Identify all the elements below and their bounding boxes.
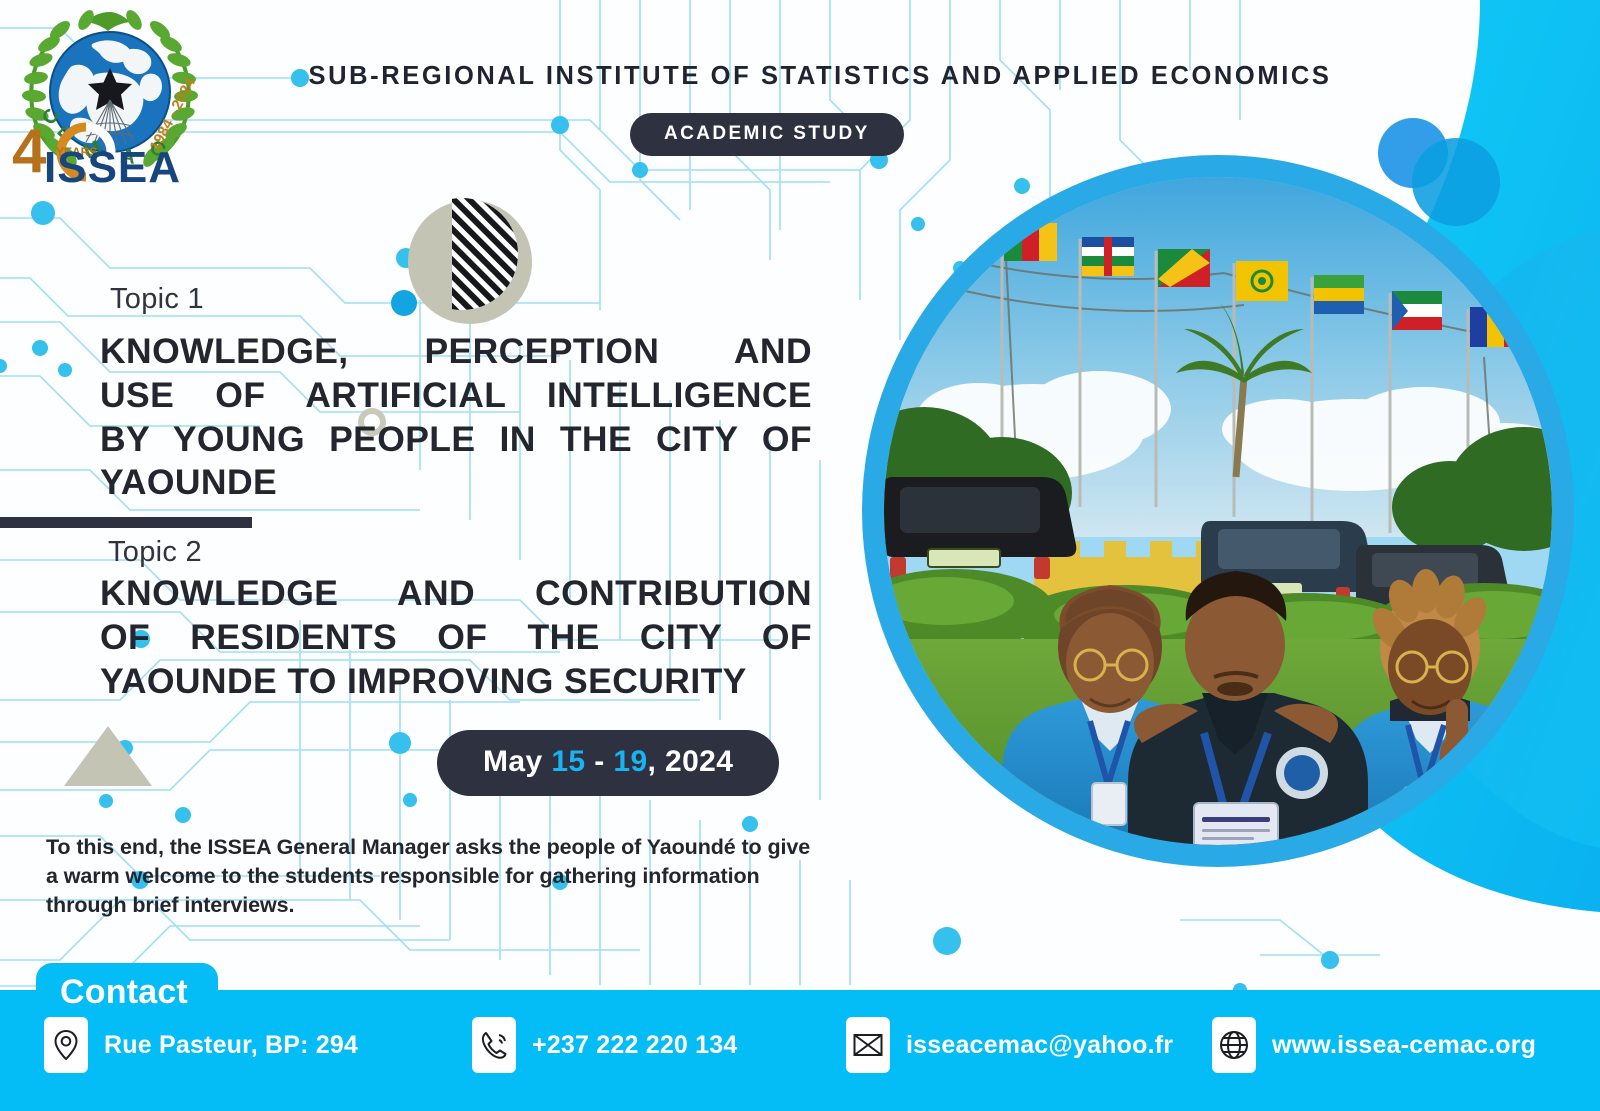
- topic-1-label: Topic 1: [110, 283, 204, 316]
- date-separator: -: [585, 745, 613, 778]
- event-date-badge: May 15 - 19, 2024: [437, 730, 779, 796]
- photo-frame: [884, 177, 1552, 845]
- contact-tab-label: Contact: [36, 963, 218, 1020]
- contact-website-value: www.issea-cemac.org: [1272, 1031, 1536, 1060]
- topic-2-label: Topic 2: [108, 536, 202, 569]
- contact-website[interactable]: www.issea-cemac.org: [1212, 1017, 1536, 1073]
- academic-study-badge: ACADEMIC STUDY: [630, 113, 904, 156]
- date-year: , 2024: [648, 745, 734, 778]
- location-pin-icon: [44, 1017, 88, 1073]
- photo-circle: [862, 155, 1574, 867]
- contact-email-value: isseacemac@yahoo.fr: [906, 1031, 1173, 1060]
- date-day-start: 15: [551, 745, 585, 778]
- students-photo: [884, 177, 1552, 845]
- page-title: SUB-REGIONAL INSTITUTE OF STATISTICS AND…: [260, 62, 1380, 91]
- svg-text:ISSEA: ISSEA: [44, 143, 181, 184]
- topic-2-title-line: KNOWLEDGE AND CONTRIBUTION: [100, 572, 812, 616]
- contact-phone[interactable]: +237 222 220 134: [472, 1017, 737, 1073]
- topic-2-title: KNOWLEDGE AND CONTRIBUTION OF RESIDENTS …: [100, 572, 812, 703]
- envelope-icon: [846, 1017, 890, 1073]
- beige-triangle-decoration: [64, 726, 152, 786]
- notice-paragraph: To this end, the ISSEA General Manager a…: [46, 833, 811, 919]
- globe-icon: [1212, 1017, 1256, 1073]
- phone-icon: [472, 1017, 516, 1073]
- contact-address[interactable]: Rue Pasteur, BP: 294: [44, 1017, 358, 1073]
- contact-address-value: Rue Pasteur, BP: 294: [104, 1031, 358, 1060]
- blue-dot-decoration: [391, 290, 417, 316]
- topic-1-title-line: YAOUNDE: [100, 461, 812, 505]
- topic-1-title: KNOWLEDGE, PERCEPTION AND USE OF ARTIFIC…: [100, 330, 812, 505]
- contact-phone-value: +237 222 220 134: [532, 1031, 737, 1060]
- striped-circle-decoration: [452, 198, 534, 310]
- svg-text:4: 4: [12, 117, 47, 184]
- date-day-end: 19: [613, 745, 647, 778]
- topic-1-title-line: KNOWLEDGE, PERCEPTION AND: [100, 330, 812, 374]
- contact-email[interactable]: isseacemac@yahoo.fr: [846, 1017, 1173, 1073]
- topic-1-title-line: USE OF ARTIFICIAL INTELLIGENCE: [100, 374, 812, 418]
- topic-1-title-line: BY YOUNG PEOPLE IN THE CITY OF: [100, 418, 812, 462]
- date-month: May: [483, 745, 543, 778]
- topic-2-title-line: OF RESIDENTS OF THE CITY OF: [100, 616, 812, 660]
- section-divider: [0, 517, 252, 528]
- issea-cemac-logo: C E M A C 4 YEARS 1984 - 2024 ISSEA: [8, 4, 212, 184]
- poster-canvas: C E M A C 4 YEARS 1984 - 2024 ISSEA SUB-…: [0, 0, 1600, 1111]
- topic-2-title-line: YAOUNDE TO IMPROVING SECURITY: [100, 660, 812, 704]
